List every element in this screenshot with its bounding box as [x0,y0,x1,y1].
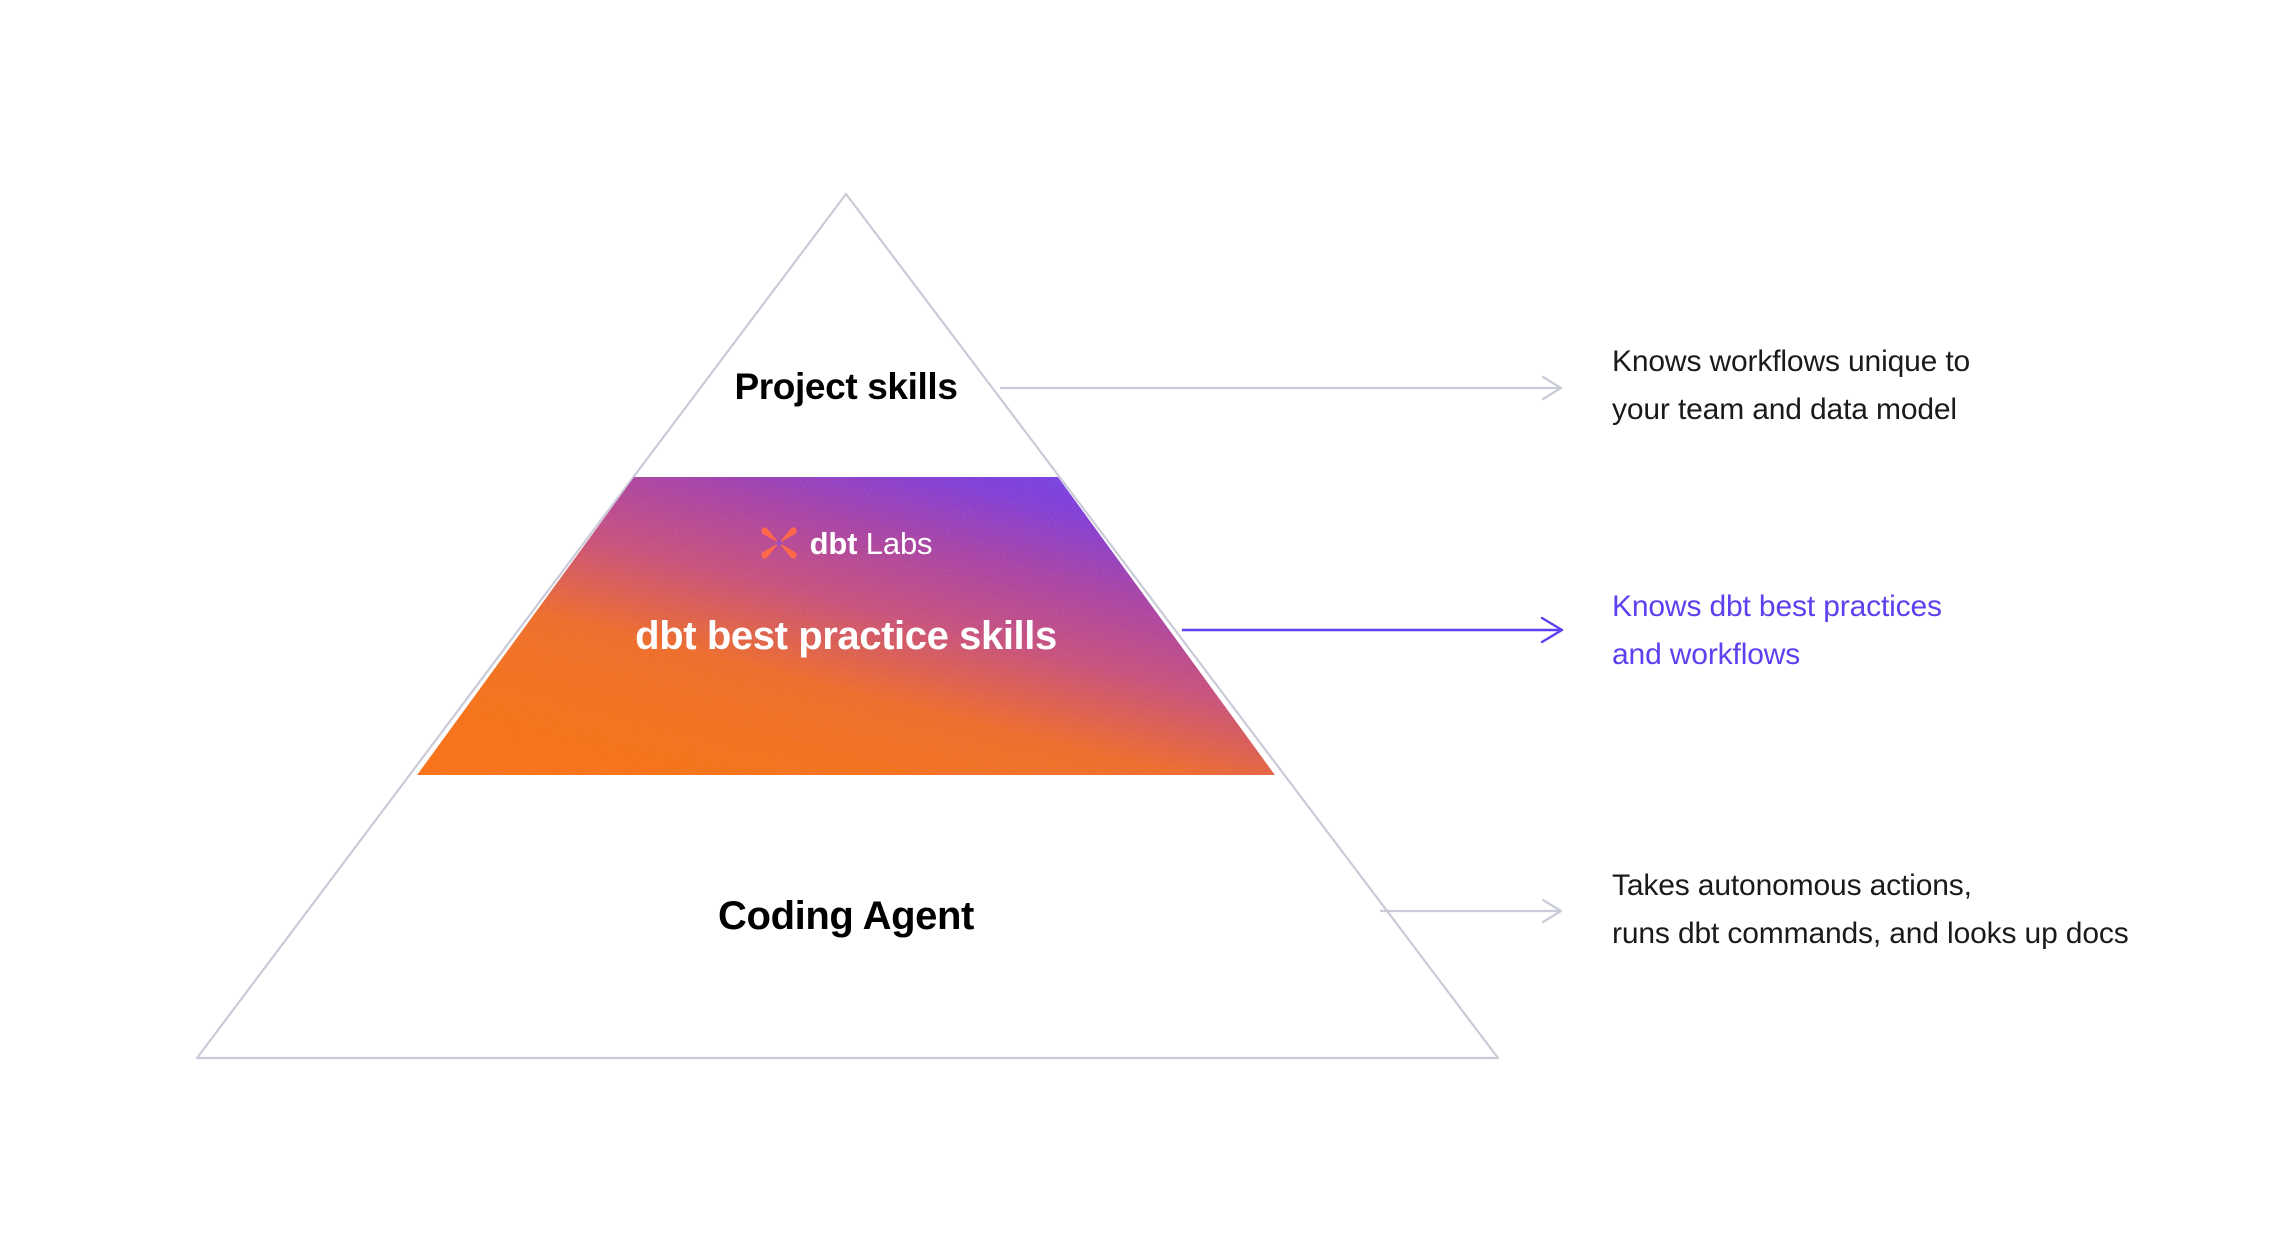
dbt-x-mark-icon [760,526,798,560]
labs-wordmark-text: Labs [866,526,933,561]
dbt-labs-wordmark: dbt Labs [810,528,933,559]
annotation-dbt-best-practices: Knows dbt best practices and workflows [1612,583,2252,679]
tier-label-coding-agent: Coding Agent [0,896,1692,936]
dbt-labs-logo: dbt Labs [0,518,1692,568]
tier-label-project-skills: Project skills [0,368,1692,405]
annotation-line: and workflows [1612,631,2252,679]
annotation-line: Knows dbt best practices [1612,583,2252,631]
labs-wordmark [857,526,865,561]
annotation-line: runs dbt commands, and looks up docs [1612,910,2252,958]
annotation-line: Takes autonomous actions, [1612,862,2252,910]
annotation-line: Knows workflows unique to [1612,338,2252,386]
annotation-coding-agent: Takes autonomous actions, runs dbt comma… [1612,862,2252,958]
tier-label-dbt-best-practice-skills: dbt best practice skills [0,616,1692,656]
dbt-wordmark-bold: dbt [810,526,858,561]
annotation-line: your team and data model [1612,386,2252,434]
pyramid-diagram: Project skills dbt best practice skills … [0,0,2272,1250]
annotation-project-skills: Knows workflows unique to your team and … [1612,338,2252,434]
